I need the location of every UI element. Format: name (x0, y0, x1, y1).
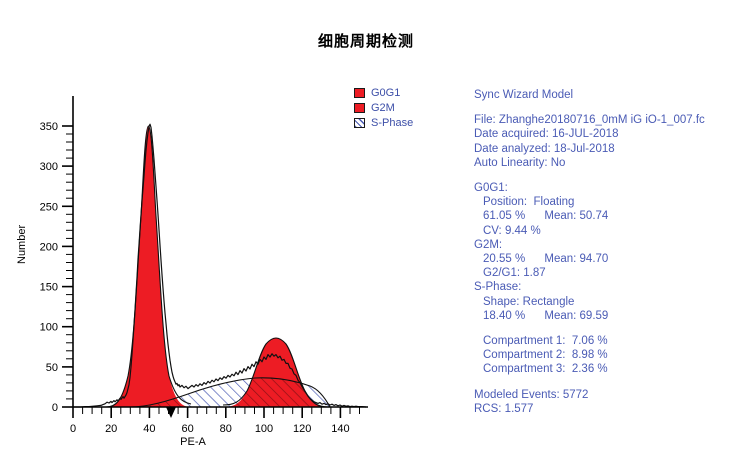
svg-text:100: 100 (40, 322, 58, 334)
svg-text:60: 60 (181, 423, 193, 435)
legend-label-sphase: S-Phase (371, 117, 413, 129)
series-g0g1-area (106, 126, 191, 407)
cell-cycle-report: 细胞周期检测 (0, 0, 732, 469)
spacer (474, 170, 724, 181)
svg-text:120: 120 (293, 423, 311, 435)
histogram-plot: 0 50 100 150 200 250 300 350 (18, 96, 368, 456)
file-name: File: Zhanghe20180716_0mM iG iO-1_007.fc (474, 113, 724, 127)
y-axis: 0 50 100 150 200 250 300 350 (40, 96, 73, 414)
legend-item-sphase[interactable]: S-Phase (354, 116, 464, 130)
y-axis-label: Number (16, 225, 28, 264)
date-acquired: Date acquired: 16-JUL-2018 (474, 127, 724, 141)
page-title: 细胞周期检测 (0, 30, 732, 51)
compartment-2: Compartment 2: 8.98 % (474, 348, 724, 362)
svg-text:20: 20 (105, 423, 117, 435)
legend-swatch-g2m-icon (354, 103, 365, 113)
g0g1-cv: CV: 9.44 % (474, 224, 724, 238)
modeled-events: Modeled Events: 5772 (474, 388, 724, 402)
compartment-3: Compartment 3: 2.36 % (474, 362, 724, 376)
svg-text:250: 250 (40, 201, 58, 213)
histogram-svg: 0 50 100 150 200 250 300 350 (18, 96, 368, 436)
g0g1-position: Position: Floating (474, 195, 724, 209)
x-axis-label: PE-A (18, 436, 368, 448)
stats-panel: Sync Wizard Model File: Zhanghe20180716_… (474, 88, 724, 416)
series-raw-data (73, 124, 366, 407)
auto-linearity: Auto Linearity: No (474, 156, 724, 170)
svg-text:50: 50 (46, 362, 58, 374)
g2m-section-header: G2M: (474, 238, 724, 252)
svg-text:150: 150 (40, 282, 58, 294)
legend-swatch-sphase-icon (354, 118, 365, 128)
svg-text:200: 200 (40, 241, 58, 253)
legend-item-g0g1[interactable]: G0G1 (354, 86, 464, 100)
svg-text:140: 140 (331, 423, 349, 435)
svg-text:0: 0 (70, 423, 76, 435)
rcs-value: RCS: 1.577 (474, 402, 724, 416)
date-analyzed: Date analyzed: 18-Jul-2018 (474, 142, 724, 156)
sphase-shape: Shape: Rectangle (474, 295, 724, 309)
svg-text:40: 40 (143, 423, 155, 435)
svg-text:300: 300 (40, 161, 58, 173)
chart-legend: G0G1 G2M S-Phase (354, 86, 464, 131)
spacer (474, 102, 724, 113)
model-title: Sync Wizard Model (474, 88, 724, 102)
svg-text:0: 0 (52, 402, 58, 414)
series-group (73, 124, 366, 407)
sphase-section-header: S-Phase: (474, 280, 724, 294)
spacer (474, 323, 724, 334)
svg-text:350: 350 (40, 121, 58, 133)
legend-item-g2m[interactable]: G2M (354, 101, 464, 115)
g2m-percent-mean: 20.55 % Mean: 94.70 (474, 252, 724, 266)
legend-swatch-g0g1-icon (354, 88, 365, 98)
sphase-percent-mean: 18.40 % Mean: 69.59 (474, 309, 724, 323)
svg-text:100: 100 (255, 423, 273, 435)
svg-text:80: 80 (220, 423, 232, 435)
legend-label-g2m: G2M (371, 102, 395, 114)
g0g1-section-header: G0G1: (474, 181, 724, 195)
g2-g1-ratio: G2/G1: 1.87 (474, 266, 724, 280)
spacer (474, 377, 724, 388)
cursor-marker-triangle[interactable] (166, 407, 176, 418)
g0g1-percent-mean: 61.05 % Mean: 50.74 (474, 209, 724, 223)
compartment-1: Compartment 1: 7.06 % (474, 334, 724, 348)
legend-label-g0g1: G0G1 (371, 87, 400, 99)
x-axis: 0 20 40 60 80 100 120 140 (70, 407, 368, 435)
